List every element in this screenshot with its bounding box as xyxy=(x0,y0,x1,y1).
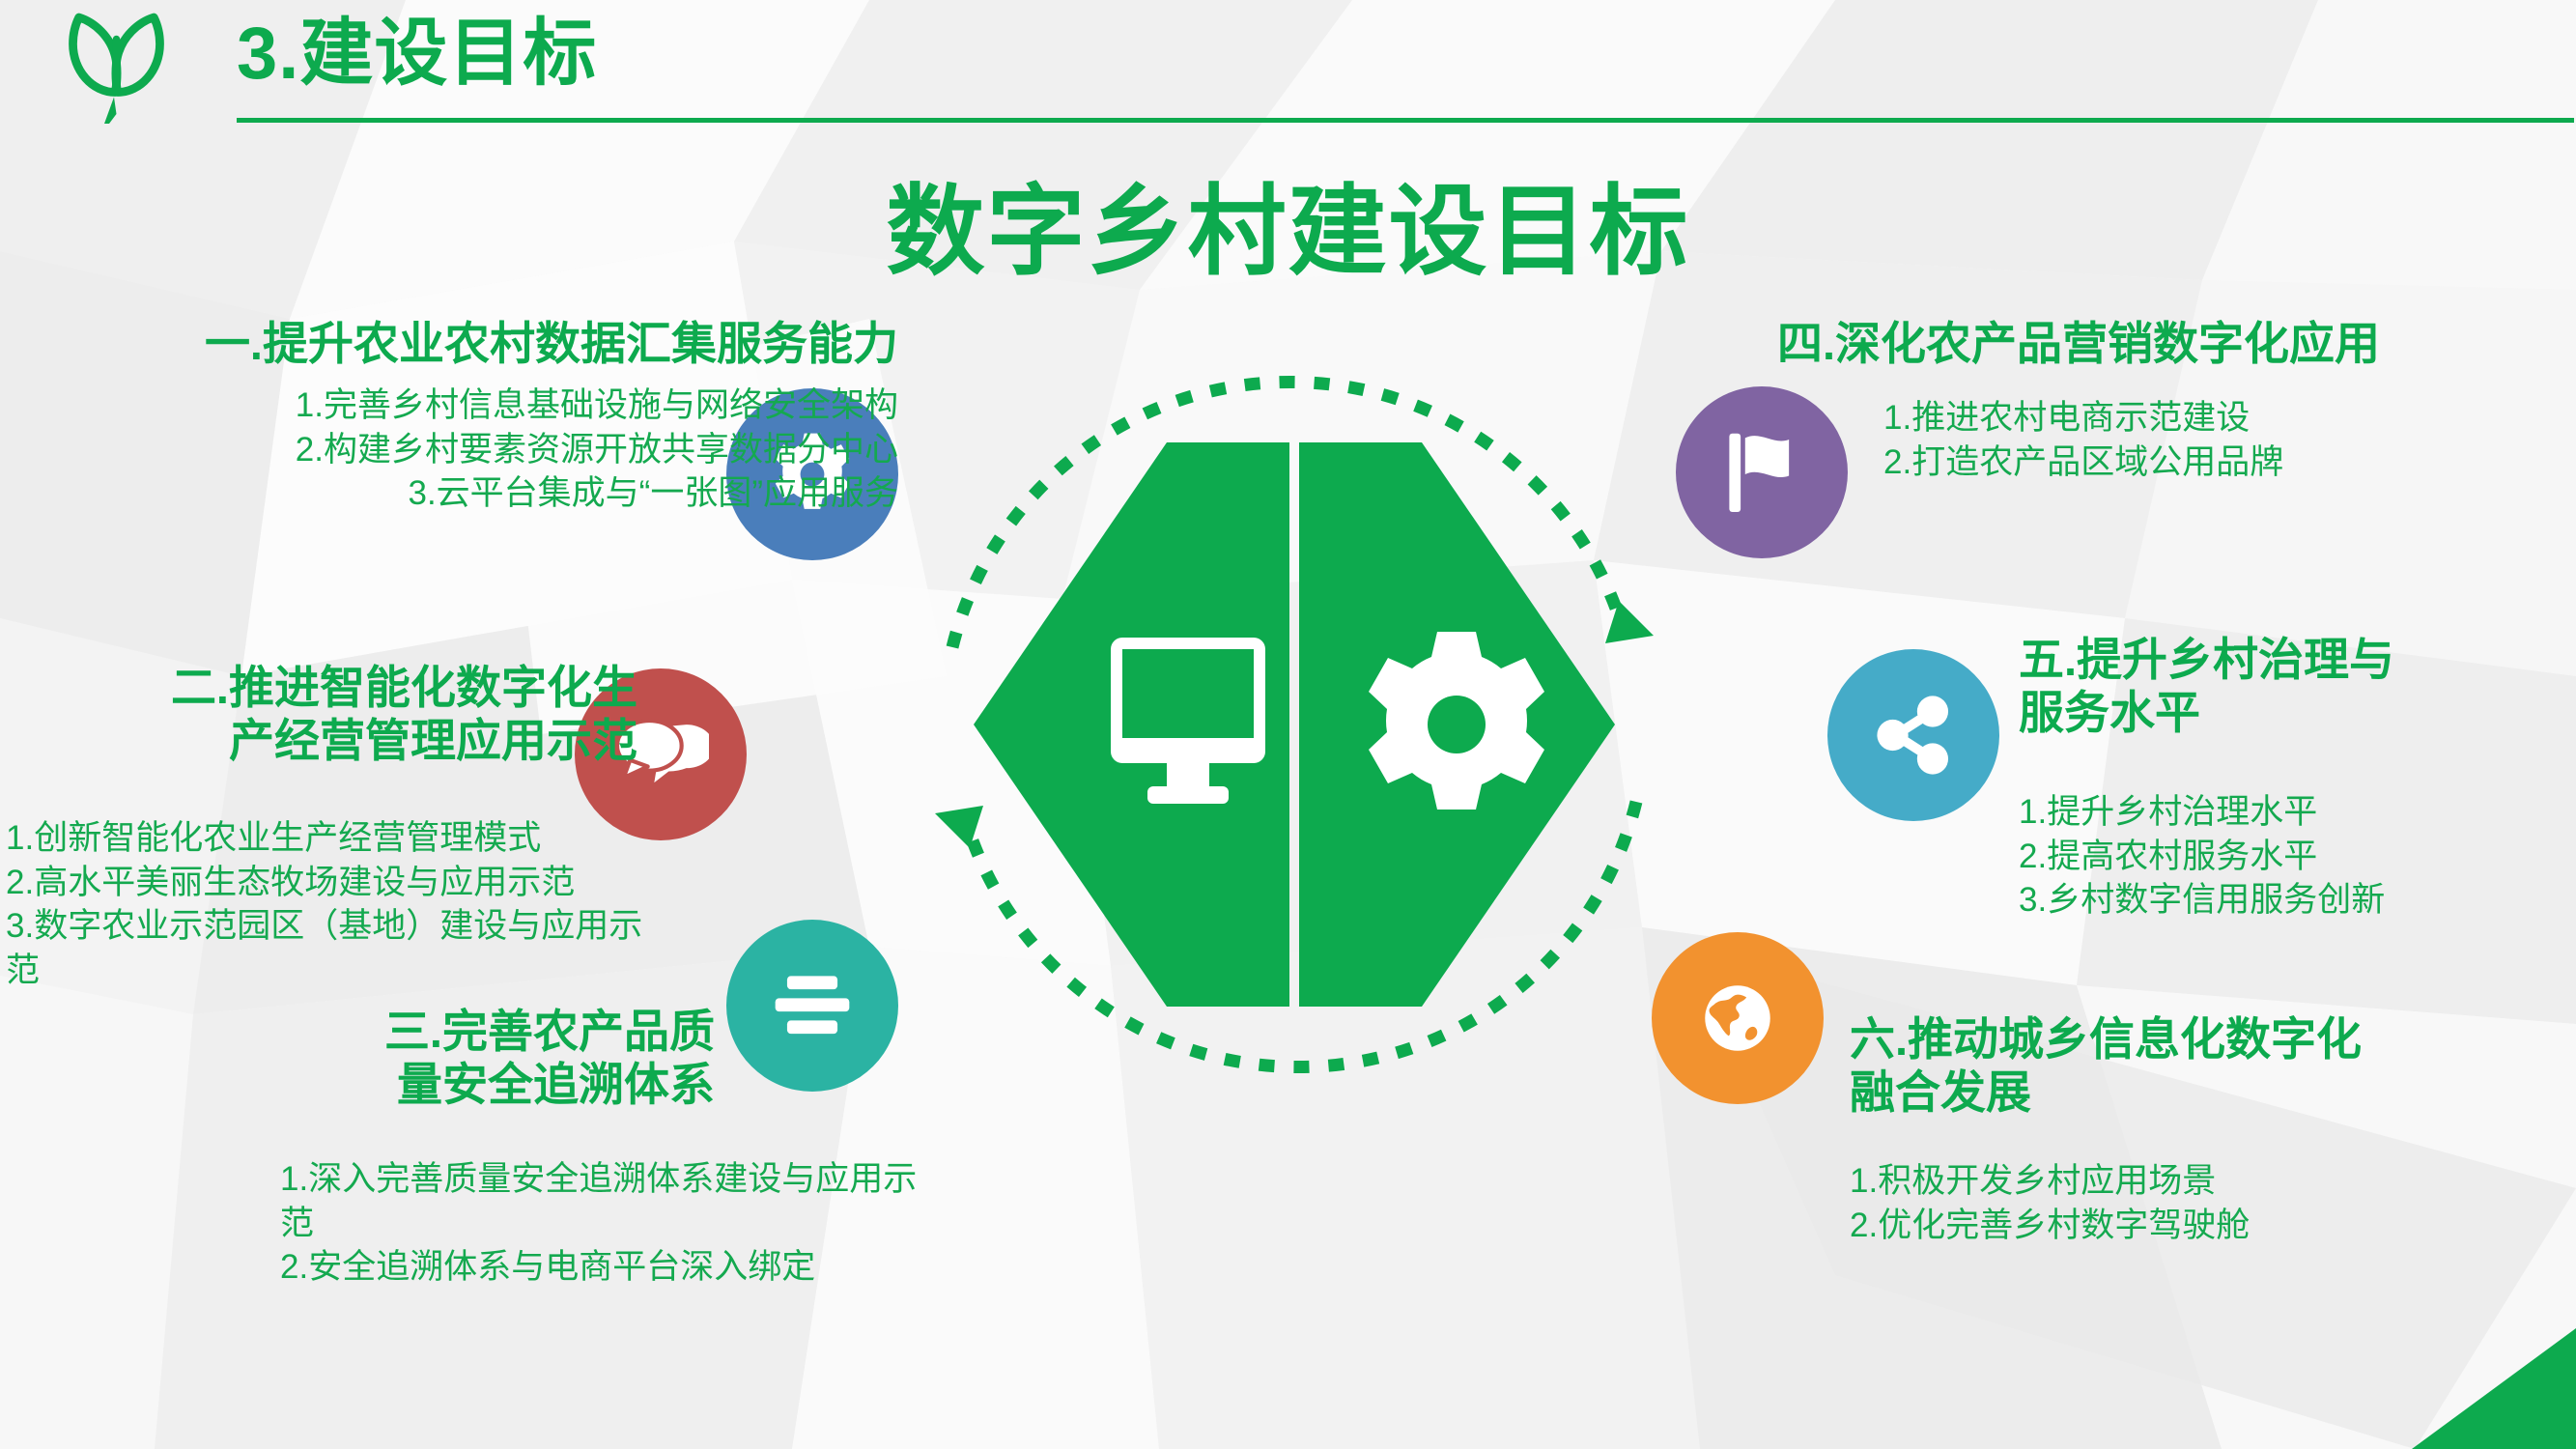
list-item: 1.创新智能化农业生产经营管理模式 xyxy=(6,816,682,861)
node-icon-five[interactable] xyxy=(1827,649,1999,821)
section-three-bullets: 1.深入完善质量安全追溯体系建设与应用示范 2.安全追溯体系与电商平台深入绑定 xyxy=(280,1157,976,1290)
section-two-bullets: 1.创新智能化农业生产经营管理模式 2.高水平美丽生态牧场建设与应用示范 3.数… xyxy=(6,816,682,992)
list-item: 2.提高农村服务水平 xyxy=(2019,835,2576,879)
main-title: 数字乡村建设目标 xyxy=(0,153,2576,295)
flag-icon xyxy=(1720,429,1803,516)
section-four-bullets: 1.推进农村电商示范建设 2.打造农产品区域公用品牌 xyxy=(1883,396,2576,484)
section-one-heading: 一.提升农业农村数据汇集服务能力 xyxy=(0,317,898,370)
list-item: 1.推进农村电商示范建设 xyxy=(1883,396,2576,440)
node-icon-six[interactable] xyxy=(1652,932,1824,1104)
section-one: 一.提升农业农村数据汇集服务能力 1.完善乡村信息基础设施与网络安全架构 2.构… xyxy=(0,317,898,516)
list-item: 2.安全追溯体系与电商平台深入绑定 xyxy=(280,1245,976,1290)
node-icon-three[interactable] xyxy=(726,920,898,1092)
page-title: 3.建设目标 xyxy=(237,14,597,95)
list-item: 3.乡村数字信用服务创新 xyxy=(2019,878,2576,923)
section-five-heading: 五.提升乡村治理与 服务水平 xyxy=(2019,633,2576,740)
section-six: 六.推动城乡信息化数字化 融合发展 xyxy=(1850,1012,2576,1120)
leaf-icon xyxy=(56,8,177,128)
section-six-heading: 六.推动城乡信息化数字化 融合发展 xyxy=(1850,1012,2576,1120)
section-one-bullets: 1.完善乡村信息基础设施与网络安全架构 2.构建乡村要素资源开放共享数据分中心 … xyxy=(0,384,898,516)
list-item: 2.高水平美丽生态牧场建设与应用示范 xyxy=(6,861,682,905)
list-item: 1.深入完善质量安全追溯体系建设与应用示范 xyxy=(280,1157,918,1245)
list-item: 3.云平台集成与“一张图”应用服务 xyxy=(0,471,898,516)
section-six-bullets: 1.积极开发乡村应用场景 2.优化完善乡村数字驾驶舱 xyxy=(1850,1159,2564,1247)
section-two-heading: 二.推进智能化数字化生 产经营管理应用示范 xyxy=(0,661,637,768)
section-five-bullets: 1.提升乡村治理水平 2.提高农村服务水平 3.乡村数字信用服务创新 xyxy=(2019,790,2576,923)
slide-header: 3.建设目标 xyxy=(0,0,2576,145)
node-icon-four[interactable] xyxy=(1676,386,1848,558)
section-five-bullets-block: 1.提升乡村治理水平 2.提高农村服务水平 3.乡村数字信用服务创新 xyxy=(2019,790,2576,923)
share-icon xyxy=(1869,691,1958,780)
corner-accent-triangle xyxy=(2354,1328,2576,1449)
list-item: 2.构建乡村要素资源开放共享数据分中心 xyxy=(0,428,898,472)
section-four: 四.深化农产品营销数字化应用 xyxy=(1777,317,2576,370)
list-item: 2.优化完善乡村数字驾驶舱 xyxy=(1850,1204,2564,1248)
header-divider xyxy=(237,118,2574,123)
section-three-heading: 三.完善农产品质 量安全追溯体系 xyxy=(0,1005,715,1112)
list-item: 1.提升乡村治理水平 xyxy=(2019,790,2576,835)
list-item: 1.积极开发乡村应用场景 xyxy=(1850,1159,2564,1204)
section-two-bullets-block: 1.创新智能化农业生产经营管理模式 2.高水平美丽生态牧场建设与应用示范 3.数… xyxy=(6,816,682,992)
center-diagram xyxy=(908,357,1681,1092)
layers-icon xyxy=(768,968,857,1043)
section-four-bullets-block: 1.推进农村电商示范建设 2.打造农产品区域公用品牌 xyxy=(1883,396,2576,484)
hexagon-right-half xyxy=(1299,442,1615,1007)
list-item: 3.数字农业示范园区（基地）建设与应用示范 xyxy=(6,904,663,992)
list-item: 2.打造农产品区域公用品牌 xyxy=(1883,440,2576,485)
section-five: 五.提升乡村治理与 服务水平 xyxy=(2019,633,2576,740)
section-two: 二.推进智能化数字化生 产经营管理应用示范 xyxy=(0,661,637,768)
slide-root: 3.建设目标 数字乡村建设目标 xyxy=(0,0,2576,1449)
section-three-bullets-block: 1.深入完善质量安全追溯体系建设与应用示范 2.安全追溯体系与电商平台深入绑定 xyxy=(280,1157,976,1290)
hexagon-left-half xyxy=(974,442,1289,1007)
section-three: 三.完善农产品质 量安全追溯体系 xyxy=(0,1005,715,1112)
list-item: 1.完善乡村信息基础设施与网络安全架构 xyxy=(0,384,898,428)
section-four-heading: 四.深化农产品营销数字化应用 xyxy=(1777,317,2576,370)
globe-icon xyxy=(1693,974,1782,1063)
section-six-bullets-block: 1.积极开发乡村应用场景 2.优化完善乡村数字驾驶舱 xyxy=(1850,1159,2564,1247)
